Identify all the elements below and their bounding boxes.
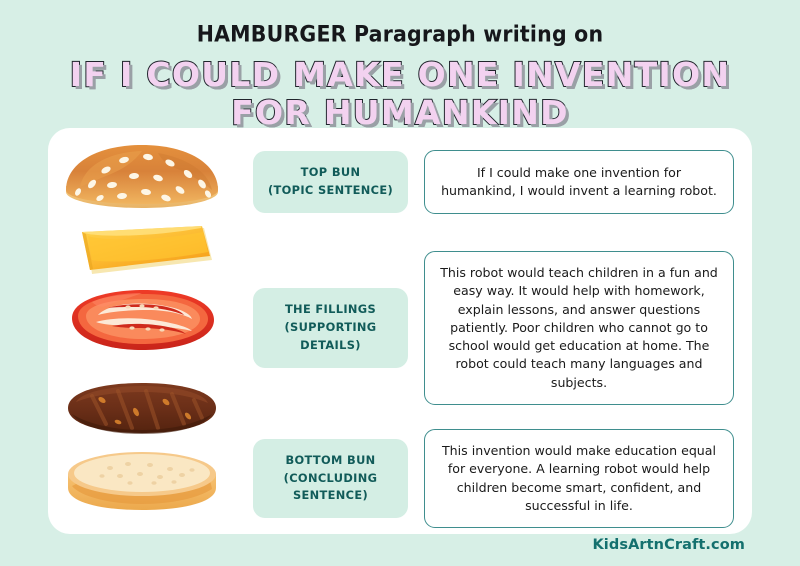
text-box-topic-sentence: If I could make one invention for humank… [424, 150, 734, 215]
label-top-bun-line-2: (TOPIC SENTENCE) [263, 182, 398, 200]
page-subtitle: HAMBURGER Paragraph writing on [0, 22, 800, 46]
row-bottom-bun: BOTTOM BUN (CONCLUDING SENTENCE) This in… [48, 426, 752, 531]
label-fillings-line-2: (SUPPORTING DETAILS) [263, 319, 398, 354]
art-column-bottom [48, 426, 236, 531]
label-fillings-line-1: THE FILLINGS [285, 302, 376, 316]
label-column-bottom: BOTTOM BUN (CONCLUDING SENTENCE) [243, 439, 418, 518]
page-title-line-1: IF I COULD MAKE ONE INVENTION [0, 56, 800, 94]
label-chip-bottom-bun: BOTTOM BUN (CONCLUDING SENTENCE) [253, 439, 408, 518]
page-header: HAMBURGER Paragraph writing on IF I COUL… [0, 0, 800, 132]
label-top-bun-line-1: TOP BUN [301, 165, 361, 179]
label-column-top: TOP BUN (TOPIC SENTENCE) [243, 151, 418, 212]
text-box-supporting-details: This robot would teach children in a fun… [424, 251, 734, 405]
content-card: TOP BUN (TOPIC SENTENCE) If I could make… [48, 128, 752, 534]
text-box-concluding-sentence: This invention would make education equa… [424, 429, 734, 528]
page-title: IF I COULD MAKE ONE INVENTION FOR HUMANK… [0, 56, 800, 133]
art-column-middle [48, 230, 236, 426]
site-watermark: KidsArtnCraft.com [592, 537, 745, 553]
art-column-top [48, 134, 236, 230]
label-bottom-bun-line-1: BOTTOM BUN [285, 453, 375, 467]
label-chip-fillings: THE FILLINGS (SUPPORTING DETAILS) [253, 288, 408, 367]
label-bottom-bun-line-2: (CONCLUDING SENTENCE) [263, 470, 398, 505]
page-title-line-2: FOR HUMANKIND [0, 94, 800, 132]
text-column-middle: This robot would teach children in a fun… [418, 251, 752, 405]
label-column-middle: THE FILLINGS (SUPPORTING DETAILS) [243, 288, 418, 367]
row-top-bun: TOP BUN (TOPIC SENTENCE) If I could make… [48, 134, 752, 230]
row-fillings: THE FILLINGS (SUPPORTING DETAILS) This r… [48, 230, 752, 426]
hamburger-paragraph-rows: TOP BUN (TOPIC SENTENCE) If I could make… [48, 128, 752, 534]
text-column-bottom: This invention would make education equa… [418, 429, 752, 528]
text-column-top: If I could make one invention for humank… [418, 150, 752, 215]
label-chip-top-bun: TOP BUN (TOPIC SENTENCE) [253, 151, 408, 212]
